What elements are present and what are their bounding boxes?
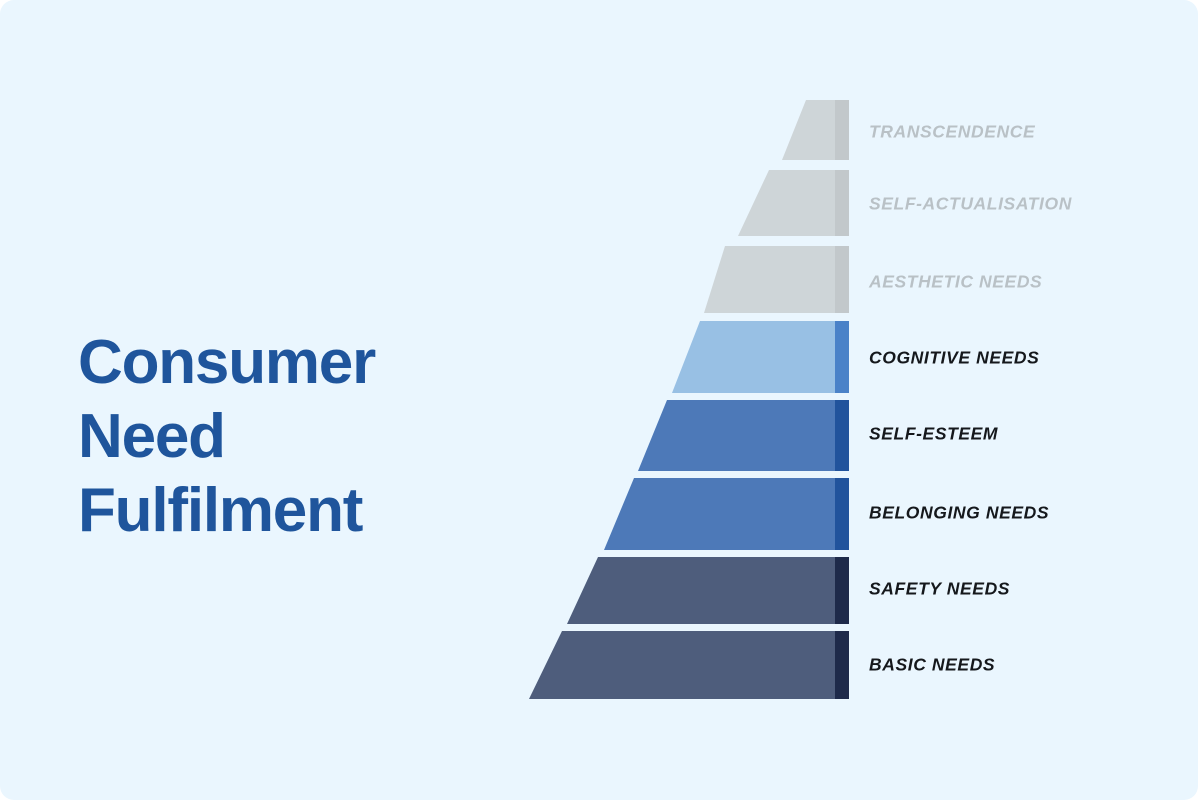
tier-label-belonging-needs: BELONGING NEEDS: [869, 503, 1049, 524]
pyramid-tier-edge: [835, 170, 849, 236]
page-title-line-2: Need: [78, 400, 508, 474]
pyramid-tier-cognitive-needs[interactable]: [660, 317, 860, 399]
pyramid-tier-face: [626, 396, 860, 477]
pyramid-tier-edge: [835, 478, 849, 550]
tier-label-safety-needs: SAFETY NEEDS: [869, 579, 1010, 600]
pyramid-tier-face: [517, 627, 860, 705]
tier-label-cognitive-needs: COGNITIVE NEEDS: [869, 348, 1039, 369]
page-title: Consumer Need Fulfilment: [78, 326, 508, 548]
pyramid-tier-self-esteem[interactable]: [626, 396, 860, 477]
pyramid-tier-transcendence[interactable]: [770, 96, 860, 166]
pyramid-tier-aesthetic-needs[interactable]: [692, 242, 860, 319]
pyramid-tier-edge: [835, 400, 849, 471]
page-title-line-3: Fulfilment: [78, 474, 508, 548]
pyramid-tier-face: [692, 242, 860, 319]
pyramid-tier-edge: [835, 246, 849, 313]
pyramid-tier-self-actualisation[interactable]: [726, 166, 860, 242]
tier-label-aesthetic-needs: AESTHETIC NEEDS: [869, 272, 1042, 293]
pyramid-tier-basic-needs[interactable]: [517, 627, 860, 705]
pyramid-tier-edge: [835, 321, 849, 393]
pyramid-tier-safety-needs[interactable]: [555, 553, 860, 630]
tier-label-self-esteem: SELF-ESTEEM: [869, 424, 998, 445]
tier-label-basic-needs: BASIC NEEDS: [869, 655, 995, 676]
tier-label-transcendence: TRANSCENDENCE: [869, 122, 1035, 143]
page-title-line-1: Consumer: [78, 326, 508, 400]
pyramid-tier-edge: [835, 631, 849, 699]
tier-label-self-actualisation: SELF-ACTUALISATION: [869, 194, 1072, 215]
pyramid-tier-face: [555, 553, 860, 630]
pyramid-tier-edge: [835, 557, 849, 624]
pyramid-tier-edge: [835, 100, 849, 160]
pyramid-tier-belonging-needs[interactable]: [592, 474, 860, 556]
pyramid-tier-face: [592, 474, 860, 556]
pyramid-tier-face: [660, 317, 860, 399]
slide-canvas: Consumer Need Fulfilment TRANSCENDENCE S…: [0, 0, 1198, 800]
